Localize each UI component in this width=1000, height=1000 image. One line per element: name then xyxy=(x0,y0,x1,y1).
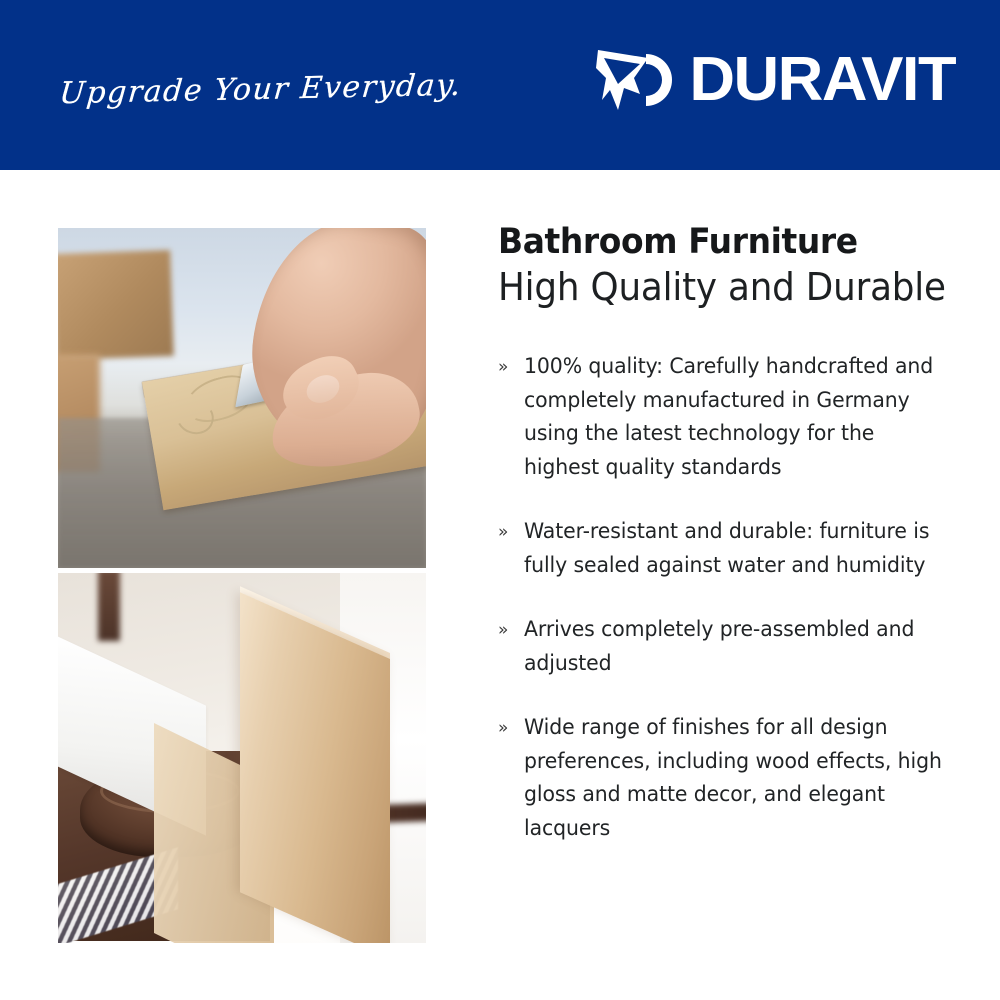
photo-column xyxy=(58,228,426,943)
duravit-bird-logo-icon xyxy=(594,44,686,116)
duravit-wordmark: DURAVIT xyxy=(689,49,955,111)
photo-blurred-wood-block xyxy=(58,250,174,360)
guillemet-bullet-icon: » xyxy=(498,515,524,549)
list-item: » Water-resistant and durable: furniture… xyxy=(498,515,968,582)
content-column: Bathroom Furniture High Quality and Dura… xyxy=(498,222,968,845)
guillemet-bullet-icon: » xyxy=(498,711,524,745)
marketing-page: Upgrade Your Everyday. DURAVIT xyxy=(0,0,1000,1000)
guillemet-bullet-icon: » xyxy=(498,350,524,384)
craftsman-chisel-wood-photo xyxy=(58,228,426,568)
page-title: Bathroom Furniture xyxy=(498,222,940,263)
photo-blurred-leg xyxy=(98,573,120,641)
duravit-logo: DURAVIT xyxy=(594,44,952,116)
feature-list: » 100% quality: Carefully handcrafted an… xyxy=(498,350,968,845)
feature-text: Arrives completely pre-assembled and adj… xyxy=(524,613,946,680)
brand-tagline: Upgrade Your Everyday. xyxy=(58,68,463,111)
feature-text: Water-resistant and durable: furniture i… xyxy=(524,515,946,582)
page-subtitle: High Quality and Durable xyxy=(498,264,940,310)
list-item: » Arrives completely pre-assembled and a… xyxy=(498,613,968,680)
guillemet-bullet-icon: » xyxy=(498,613,524,647)
header-banner: Upgrade Your Everyday. DURAVIT xyxy=(0,0,1000,170)
open-drawer-detail-photo xyxy=(58,573,426,943)
feature-text: Wide range of finishes for all design pr… xyxy=(524,711,946,845)
feature-text: 100% quality: Carefully handcrafted and … xyxy=(524,350,946,484)
list-item: » Wide range of finishes for all design … xyxy=(498,711,968,845)
list-item: » 100% quality: Carefully handcrafted an… xyxy=(498,350,968,484)
